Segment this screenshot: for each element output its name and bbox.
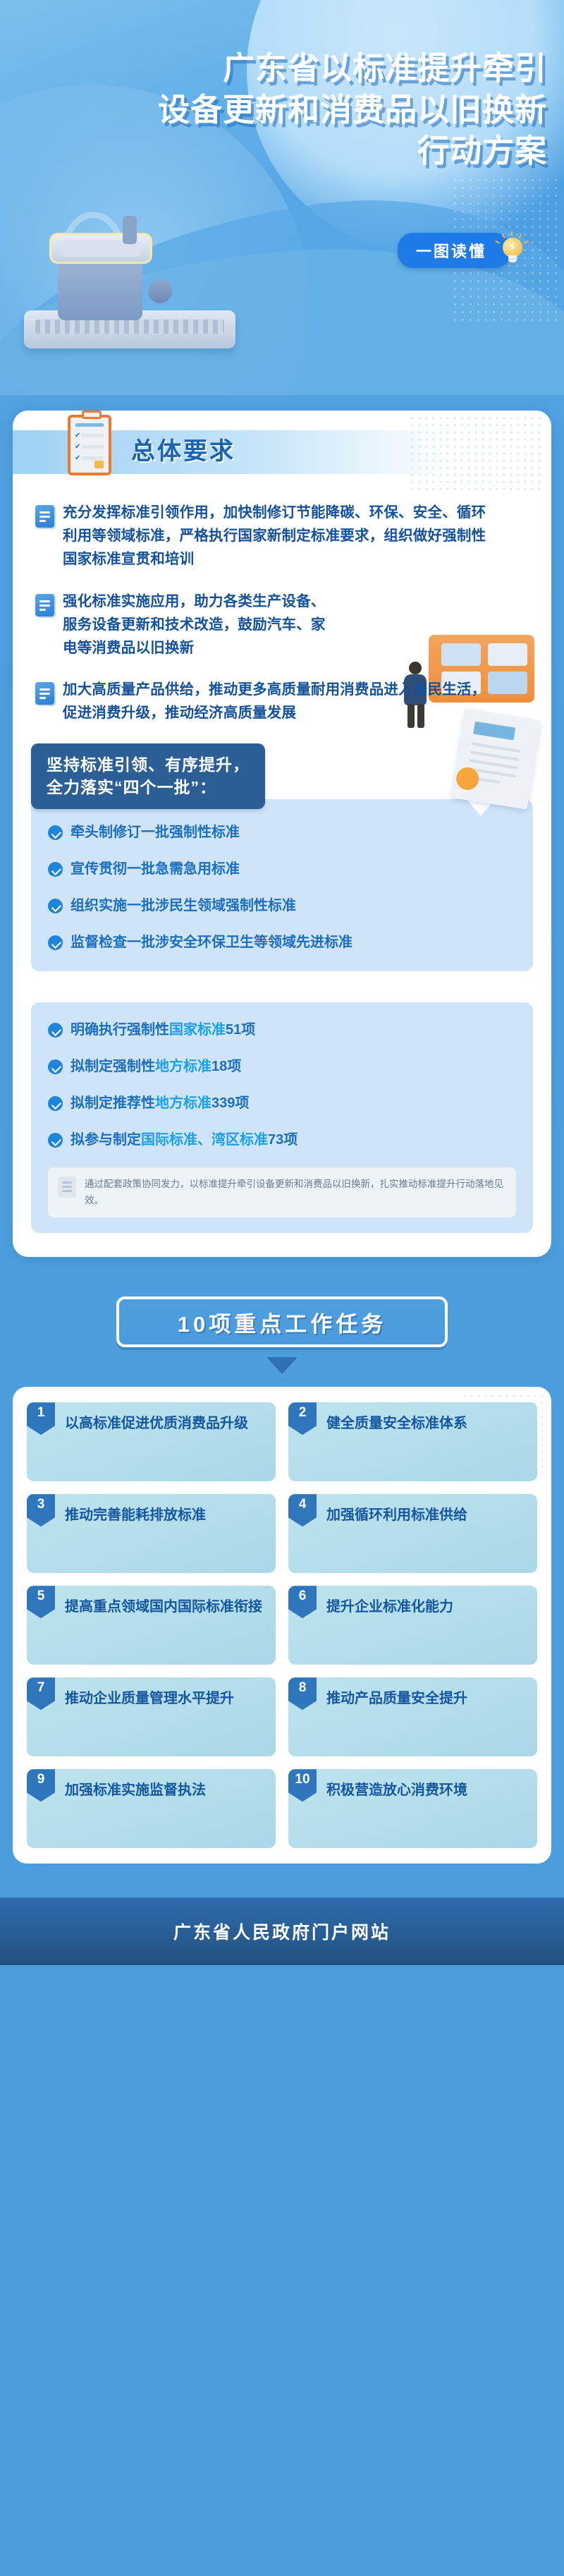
task-label: 健全质量安全标准体系 (326, 1414, 527, 1434)
check-circle-icon (48, 899, 63, 913)
document-icon (35, 594, 54, 616)
task-card[interactable]: 1 以高标准促进优质消费品升级 (27, 1402, 276, 1481)
count-item-2: 拟制定强制性地方标准18项 (70, 1057, 241, 1076)
count-item-4: 拟参与制定国际标准、湾区标准73项 (70, 1131, 298, 1149)
footer-bar: 广东省人民政府门户网站 (0, 1897, 564, 1965)
list-item-label: 监督检查一批涉安全环保卫生等领域先进标准 (70, 933, 352, 952)
lightbulb-icon: ⚡ (496, 234, 529, 267)
task-label: 推动产品质量安全提升 (326, 1689, 527, 1709)
title-line-1: 广东省以标准提升牵引 (14, 48, 547, 90)
footnote-text: 通过配套政策协同发力，以标准提升牵引设备更新和消费品以旧换新，扎实推动标准提升行… (85, 1177, 506, 1208)
list-item-label: 组织实施一批涉民生领域强制性标准 (70, 897, 296, 915)
task-label: 提升企业标准化能力 (326, 1597, 527, 1617)
task-number: 9 (27, 1769, 55, 1802)
tasks-section: 10项重点工作任务 1 以高标准促进优质消费品升级 2 健全质量安全标准体系 3… (13, 1296, 551, 1864)
four-batches-panel: 坚持标准引领、有序提升， 全力落实“四个一批”： 牵头制修订一批强制性标准 宣传… (31, 743, 533, 971)
paragraph-text: 强化标准实施应用，助力各类生产设备、服务设备更新和技术改造，鼓励汽车、家电等消费… (63, 590, 336, 660)
tasks-title-banner: 10项重点工作任务 (116, 1296, 448, 1347)
task-card[interactable]: 4 加强循环利用标准供给 (288, 1494, 537, 1573)
check-circle-icon (48, 1096, 63, 1111)
hero-banner: 广东省以标准提升牵引 设备更新和消费品以旧换新 行动方案 一图读懂 ⚡ (0, 0, 564, 395)
task-number: 5 (27, 1586, 55, 1618)
task-label: 提高重点领域国内国际标准衔接 (65, 1597, 266, 1617)
task-number: 6 (288, 1586, 317, 1618)
task-label: 加强标准实施监督执法 (65, 1780, 266, 1801)
task-number: 3 (27, 1494, 55, 1526)
panel-heading-line-2: 全力落实“四个一批”： (47, 776, 250, 799)
task-number: 2 (288, 1402, 317, 1435)
task-number: 10 (288, 1769, 317, 1802)
infographic-page: 广东省以标准提升牵引 设备更新和消费品以旧换新 行动方案 一图读懂 ⚡ ✔ ✔ (0, 0, 564, 2576)
title-line-3: 行动方案 (14, 130, 547, 172)
task-card[interactable]: 10 积极营造放心消费环境 (288, 1769, 537, 1848)
note-icon (58, 1177, 76, 1198)
check-circle-icon (48, 1023, 63, 1038)
machine-illustration (17, 212, 250, 388)
list-item: 组织实施一批涉民生领域强制性标准 (48, 897, 516, 915)
title-line-2: 设备更新和消费品以旧换新 (14, 90, 547, 131)
tasks-grid: 1 以高标准促进优质消费品升级 2 健全质量安全标准体系 3 推动完善能耗排放标… (27, 1402, 537, 1848)
count-item-1: 明确执行强制性国家标准51项 (70, 1021, 255, 1039)
tasks-grid-container: 1 以高标准促进优质消费品升级 2 健全质量安全标准体系 3 推动完善能耗排放标… (13, 1387, 551, 1864)
page-title: 广东省以标准提升牵引 设备更新和消费品以旧换新 行动方案 (14, 48, 547, 172)
check-circle-icon (48, 862, 63, 877)
task-label: 推动企业质量管理水平提升 (65, 1689, 266, 1709)
section-header: ✔ ✔ ✔ 总体要求 (13, 411, 551, 501)
check-circle-icon (48, 1059, 63, 1074)
task-number: 1 (27, 1402, 55, 1435)
section-title: 总体要求 (131, 432, 235, 466)
task-card[interactable]: 5 提高重点领域国内国际标准衔接 (27, 1586, 276, 1665)
task-label: 积极营造放心消费环境 (326, 1780, 527, 1801)
list-item: 明确执行强制性国家标准51项 (48, 1021, 516, 1039)
requirement-paragraph: 充分发挥标准引领作用，加快制修订节能降碳、环保、安全、循环利用等领域标准，严格执… (13, 501, 551, 571)
task-label: 加强循环利用标准供给 (326, 1505, 527, 1526)
task-number: 7 (27, 1677, 55, 1710)
panel-items-list: 牵头制修订一批强制性标准 宣传贯彻一批急需急用标准 组织实施一批涉民生领域强制性… (31, 799, 533, 971)
task-label: 以高标准促进优质消费品升级 (65, 1414, 266, 1434)
overall-requirements-card: ✔ ✔ ✔ 总体要求 充分发挥标准引领作用，加快制修订节能降碳、环保、安全、循环… (13, 411, 551, 1257)
requirement-paragraph: 强化标准实施应用，助力各类生产设备、服务设备更新和技术改造，鼓励汽车、家电等消费… (13, 590, 551, 660)
task-card[interactable]: 3 推动完善能耗排放标准 (27, 1494, 276, 1573)
list-item-label: 宣传贯彻一批急需急用标准 (70, 860, 240, 878)
list-item: 拟参与制定国际标准、湾区标准73项 (48, 1131, 516, 1149)
paragraph-text: 加大高质量产品供给，推动更多高质量耐用消费品进入居民生活，促进消费升级，推动经济… (63, 678, 500, 724)
document-icon (35, 505, 54, 528)
task-card[interactable]: 6 提升企业标准化能力 (288, 1586, 537, 1665)
list-item: 监督检查一批涉安全环保卫生等领域先进标准 (48, 933, 516, 952)
list-item: 牵头制修订一批强制性标准 (48, 823, 516, 842)
check-circle-icon (48, 825, 63, 840)
count-item-3: 拟制定推荐性地方标准339项 (70, 1094, 249, 1112)
paper-document-icon (452, 708, 541, 809)
standards-count-panel: 明确执行强制性国家标准51项 拟制定强制性地方标准18项 拟制定推荐性地方标准3… (31, 1002, 533, 1233)
paragraph-text: 充分发挥标准引领作用，加快制修订节能降碳、环保、安全、循环利用等领域标准，严格执… (63, 501, 500, 571)
list-item: 宣传贯彻一批急需急用标准 (48, 860, 516, 878)
document-icon (35, 682, 54, 705)
task-label: 推动完善能耗排放标准 (65, 1505, 266, 1526)
list-item: 拟制定推荐性地方标准339项 (48, 1094, 516, 1112)
read-at-a-glance-badge[interactable]: 一图读懂 ⚡ (398, 233, 529, 268)
check-circle-icon (48, 935, 63, 950)
tasks-title-text: 10项重点工作任务 (178, 1306, 386, 1338)
clipboard-icon: ✔ ✔ ✔ (68, 415, 111, 475)
list-item: 拟制定强制性地方标准18项 (48, 1057, 516, 1076)
panel-heading-line-1: 坚持标准引领、有序提升， (47, 753, 250, 777)
task-card[interactable]: 9 加强标准实施监督执法 (27, 1769, 276, 1848)
footer-text: 广东省人民政府门户网站 (173, 1919, 391, 1944)
bolt-glyph: ⚡ (508, 241, 517, 253)
list-item-label: 牵头制修订一批强制性标准 (70, 823, 240, 842)
task-number: 8 (288, 1677, 317, 1710)
task-card[interactable]: 7 推动企业质量管理水平提升 (27, 1677, 276, 1756)
chevron-down-icon (266, 1357, 298, 1374)
panel-heading: 坚持标准引领、有序提升， 全力落实“四个一批”： (31, 743, 265, 809)
check-circle-icon (48, 1133, 63, 1148)
task-card[interactable]: 2 健全质量安全标准体系 (288, 1402, 537, 1481)
task-number: 4 (288, 1494, 317, 1526)
footnote: 通过配套政策协同发力，以标准提升牵引设备更新和消费品以旧换新，扎实推动标准提升行… (48, 1167, 516, 1217)
task-card[interactable]: 8 推动产品质量安全提升 (288, 1677, 537, 1756)
badge-label: 一图读懂 (398, 233, 510, 268)
